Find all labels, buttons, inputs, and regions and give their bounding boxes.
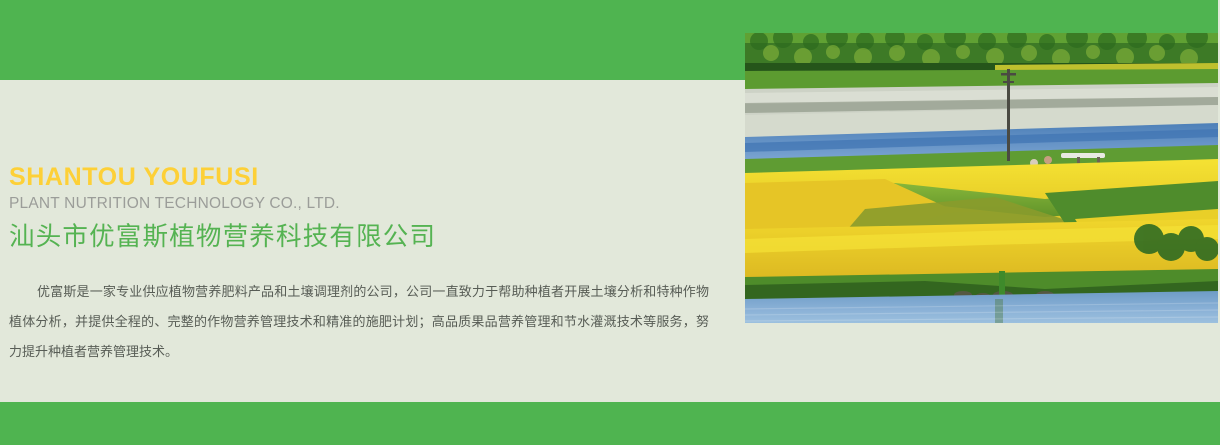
page-root: SHANTOU YOUFUSI PLANT NUTRITION TECHNOLO… (0, 0, 1220, 445)
company-subtitle-english: PLANT NUTRITION TECHNOLOGY CO., LTD. (9, 194, 719, 215)
company-intro-paragraph: 优富斯是一家专业供应植物营养肥料产品和土壤调理剂的公司，公司一直致力于帮助种植者… (9, 277, 709, 367)
company-name-english: SHANTOU YOUFUSI (9, 164, 719, 191)
farmland-harvest-photo (745, 33, 1218, 323)
bottom-green-band (0, 402, 1220, 445)
branding-block: SHANTOU YOUFUSI PLANT NUTRITION TECHNOLO… (9, 164, 719, 254)
farmland-harvest-illustration (745, 33, 1218, 323)
company-name-chinese: 汕头市优富斯植物营养科技有限公司 (9, 220, 719, 254)
